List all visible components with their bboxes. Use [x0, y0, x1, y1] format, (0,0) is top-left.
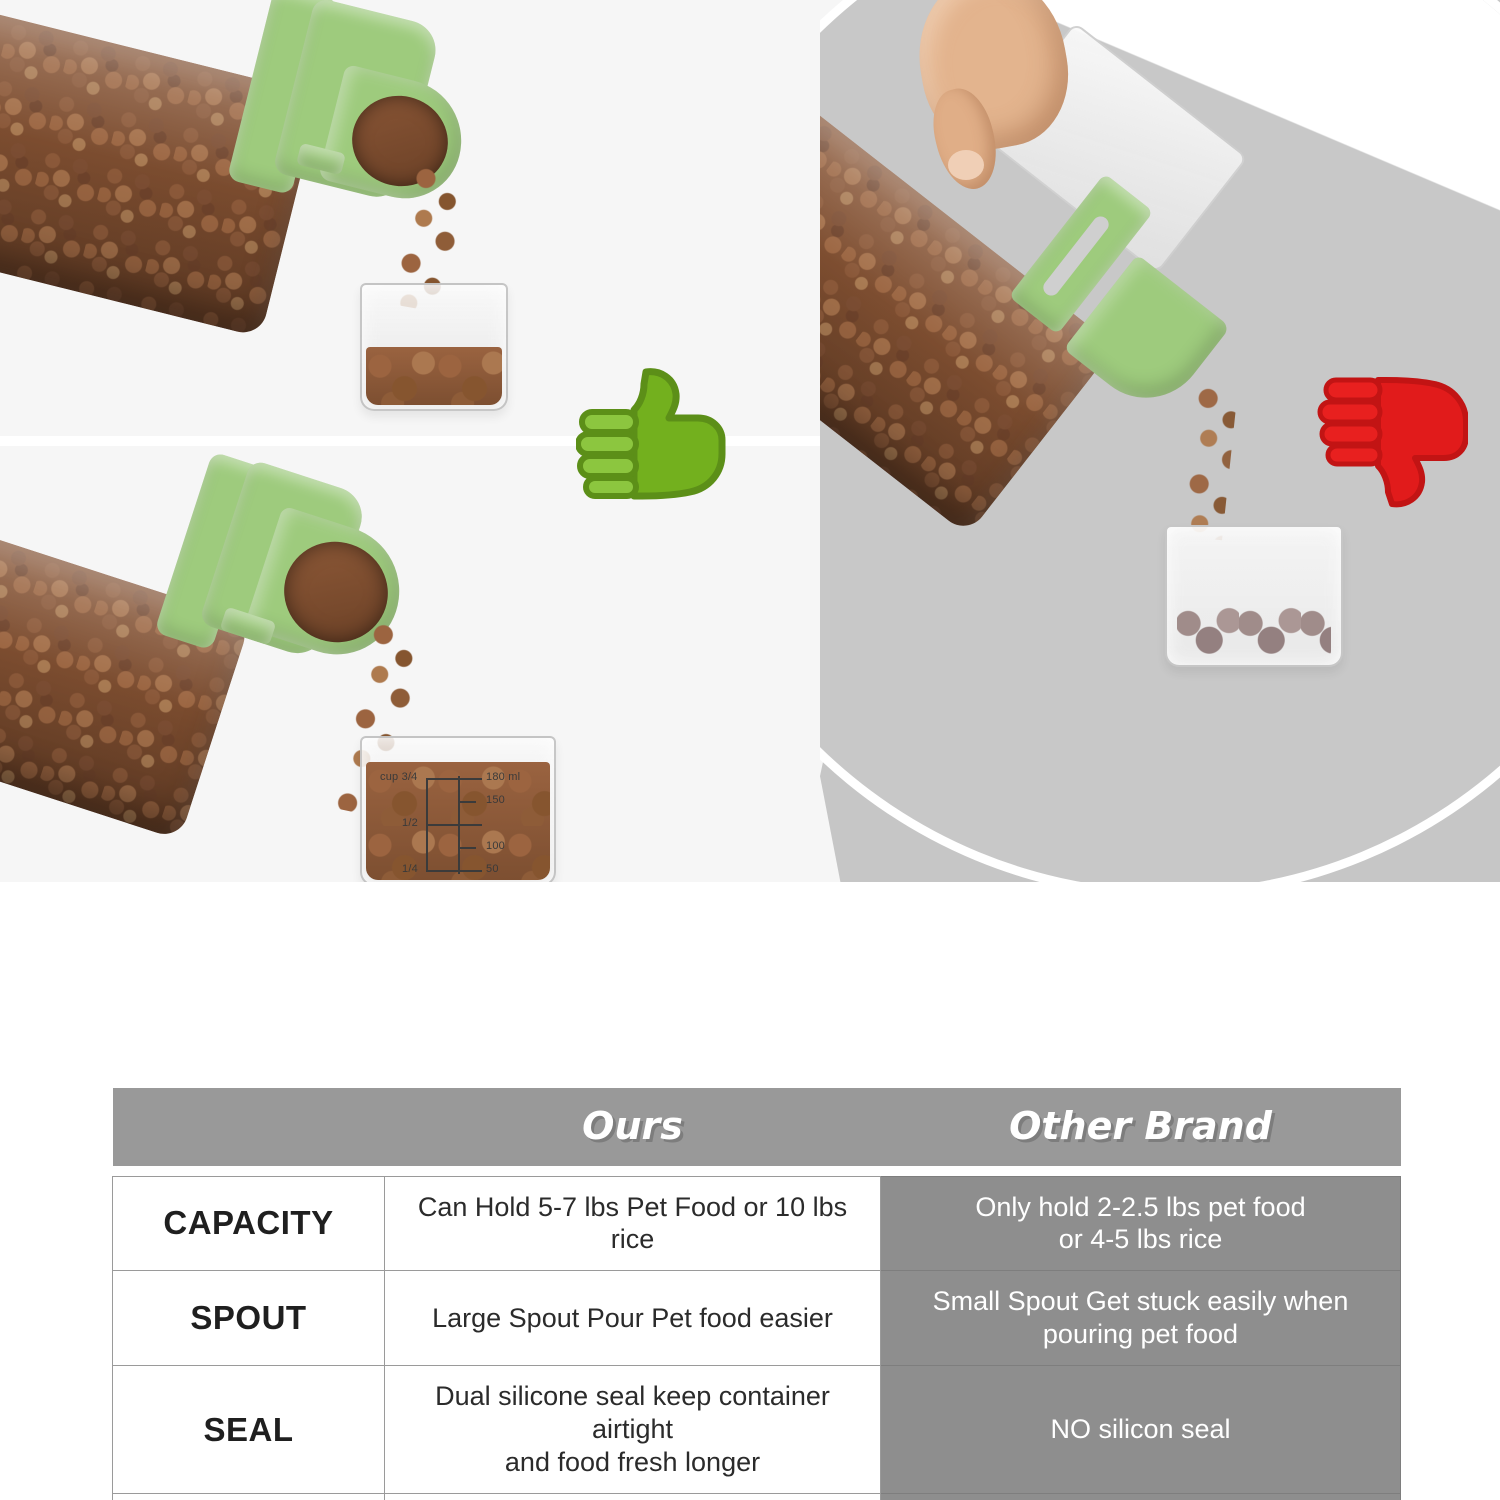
scale-tick	[460, 778, 482, 780]
measuring-cup: cup 3/4 1/2 1/4 180 ml 150 100 50	[360, 736, 556, 882]
ours-value-capacity: Can Hold 5-7 lbs Pet Food or 10 lbs rice	[385, 1176, 881, 1271]
table-row: SEAL Dual silicone seal keep container a…	[113, 1366, 1401, 1494]
heading-section: How To Choose A Good Portable PET FOOD C…	[0, 886, 1500, 1076]
header-other-brand: Other Brand	[881, 1088, 1401, 1166]
fingernail	[948, 150, 984, 180]
kibble-in-cup	[366, 347, 502, 405]
other-brand-measuring-cup	[1165, 525, 1343, 667]
table-header: Ours Other Brand	[113, 1088, 1401, 1166]
cup-scale-label-half: 1/2	[402, 817, 418, 829]
comparison-table: Ours Other Brand CAPACITY Can Hold 5-7 l…	[112, 1088, 1401, 1500]
feature-label-spout: SPOUT	[113, 1271, 385, 1366]
panel-divider	[0, 436, 900, 446]
cup-scale-label-quarter: 1/4	[402, 863, 418, 875]
other-value-capacity: Only hold 2-2.5 lbs pet foodor 4-5 lbs r…	[881, 1176, 1401, 1271]
scale-tick	[460, 801, 476, 803]
table-header-row: Ours Other Brand	[113, 1088, 1401, 1166]
ours-value-seal: Dual silicone seal keep container airtig…	[385, 1366, 881, 1494]
infographic-page: cup 3/4 1/2 1/4 180 ml 150 100 50	[0, 0, 1500, 1500]
scale-tick	[460, 847, 476, 849]
table-row: PORTABLEHANDLE 4 fingers can reach in ha…	[113, 1494, 1401, 1500]
header-feature-col	[113, 1088, 385, 1166]
cup-scale-label-150: 150	[486, 794, 505, 806]
photo-panel-top-left	[0, 0, 900, 436]
cup-scale-label-three-quarter: cup 3/4	[380, 771, 417, 783]
thumbs-up-badge	[576, 368, 726, 500]
table-row: CAPACITY Can Hold 5-7 lbs Pet Food or 10…	[113, 1176, 1401, 1271]
scale-tick	[460, 824, 482, 826]
cup-scale-label-180ml: 180 ml	[486, 771, 520, 783]
thumbs-down-badge	[1316, 372, 1468, 508]
feature-label-portable-handle: PORTABLEHANDLE	[113, 1494, 385, 1500]
cup-scale-label-50: 50	[486, 863, 499, 875]
feature-label-seal: SEAL	[113, 1366, 385, 1494]
other-value-spout: Small Spout Get stuck easily whenpouring…	[881, 1271, 1401, 1366]
header-ours: Ours	[385, 1088, 881, 1166]
product-photo-section: cup 3/4 1/2 1/4 180 ml 150 100 50	[0, 0, 1500, 882]
scale-tick	[460, 870, 482, 872]
table-body: CAPACITY Can Hold 5-7 lbs Pet Food or 10…	[113, 1166, 1401, 1500]
scale-tick	[426, 778, 460, 780]
table-row: SPOUT Large Spout Pour Pet food easier S…	[113, 1271, 1401, 1366]
scale-tick	[426, 870, 460, 872]
other-value-seal: NO silicon seal	[881, 1366, 1401, 1494]
thumbs-up-icon	[576, 368, 726, 500]
thumbs-down-icon	[1316, 372, 1468, 508]
ours-value-portable-handle: 4 fingers can reach in handle easily and…	[385, 1494, 881, 1500]
other-value-portable-handle: ONLY2-3 fingers can reach in handle	[881, 1494, 1401, 1500]
photo-panel-bottom-left: cup 3/4 1/2 1/4 180 ml 150 100 50	[0, 446, 900, 882]
table-spacer-row	[113, 1166, 1401, 1176]
measuring-cup	[360, 283, 508, 411]
kibble-in-other-cup	[1177, 601, 1331, 657]
ours-value-spout: Large Spout Pour Pet food easier	[385, 1271, 881, 1366]
scale-tick	[426, 824, 460, 826]
feature-label-capacity: CAPACITY	[113, 1176, 385, 1271]
cup-scale-label-100: 100	[486, 840, 505, 852]
